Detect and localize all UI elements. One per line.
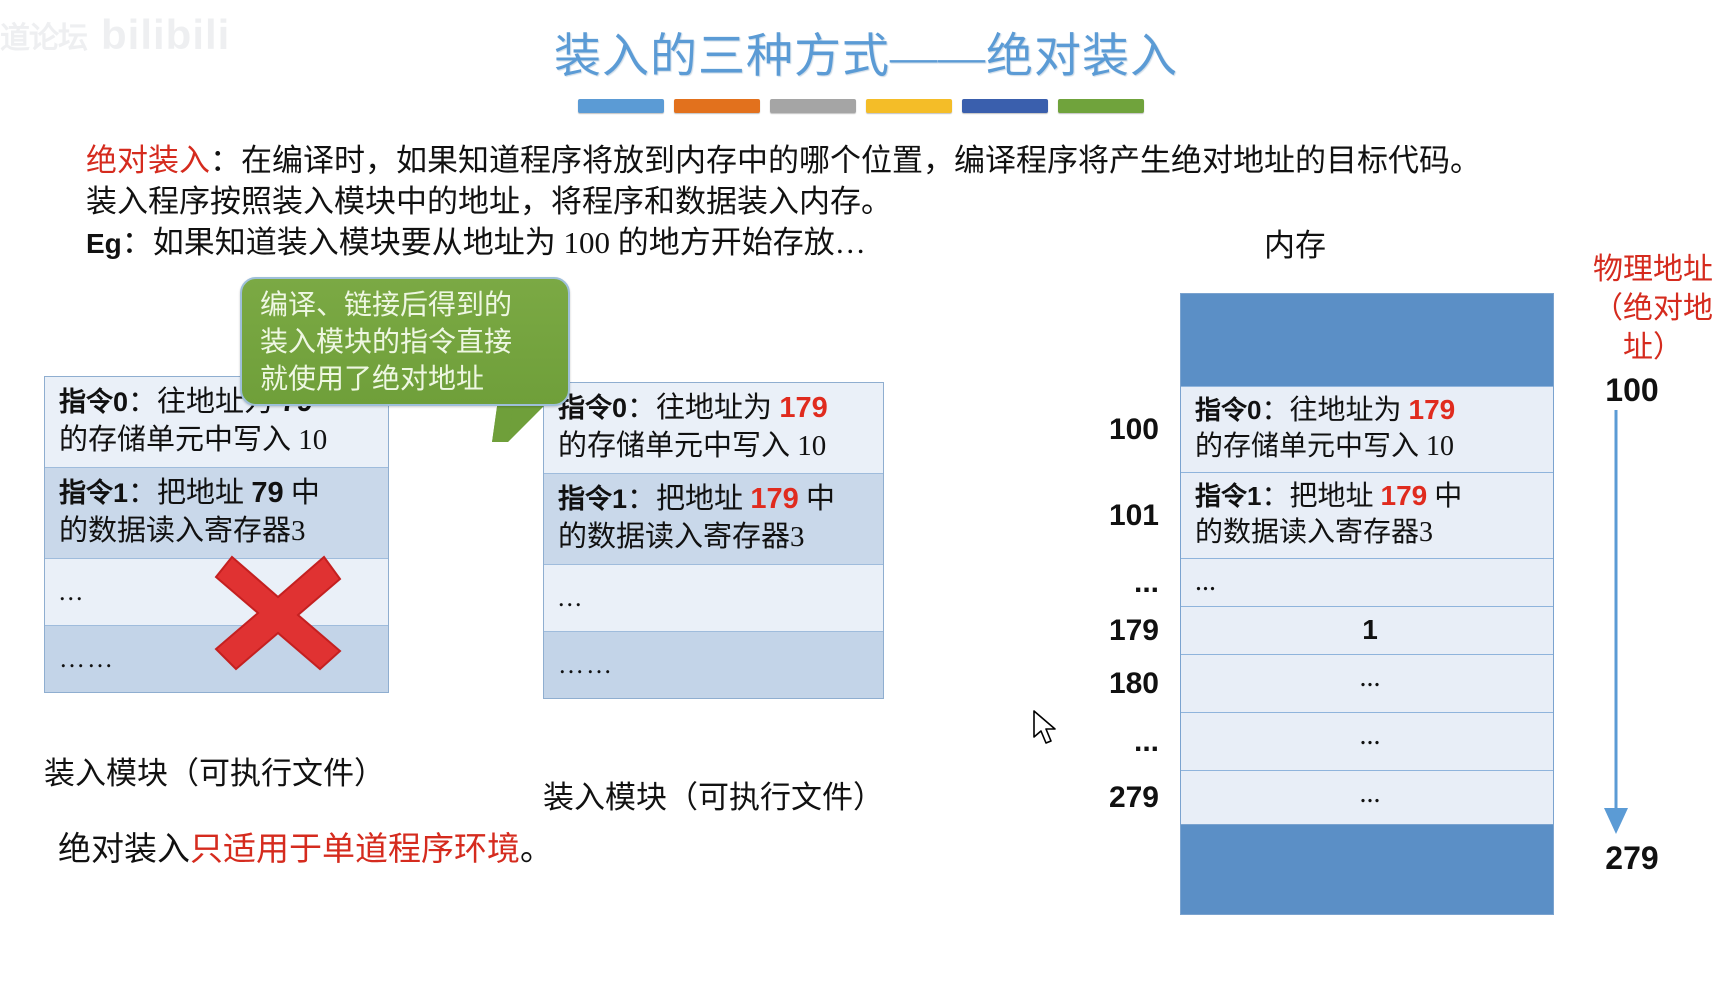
memory-row-ellipsis-2: ... ... xyxy=(1181,712,1553,770)
instr1-mid-right: 把地址 xyxy=(656,483,750,515)
memory-address-180: 180 xyxy=(1061,666,1181,702)
instruction-row-1: 指令1：把地址 179 中 的数据读入寄存器3 xyxy=(544,474,883,565)
memory-row-101: 101 指令1：把地址 179 中 的数据读入寄存器3 xyxy=(1181,472,1553,558)
instruction-row-1-line2: 的数据读入寄存器3 xyxy=(59,512,378,550)
instr1-mid-left: 把地址 xyxy=(157,477,251,509)
instruction-row-0-line1: 指令0：往地址为 179 xyxy=(558,389,873,427)
memory-address-ellipsis-1: ... xyxy=(1061,565,1181,601)
instr0-prefix-left: 指令0 xyxy=(59,387,128,417)
memory-address-100: 100 xyxy=(1061,412,1181,448)
memory-value-279: ... xyxy=(1360,778,1381,809)
instr0-sep-right: ： xyxy=(627,392,656,424)
accent-bar-6 xyxy=(1058,99,1144,113)
physical-address-end: 279 xyxy=(1572,840,1692,877)
red-cross-icon xyxy=(212,553,344,671)
memory-address-279: 279 xyxy=(1061,780,1181,816)
memory-row-101-line1: 指令1：把地址 179 中 xyxy=(1195,478,1545,515)
memory-title: 内存 xyxy=(1180,220,1410,265)
instr1-prefix-right: 指令1 xyxy=(558,484,627,514)
memory-value-ellipsis-2: ... xyxy=(1360,720,1381,751)
mem-instr1-tail: 中 xyxy=(1427,481,1462,512)
paragraph-line-1: 绝对装入：在编译时，如果知道程序将放到内存中的哪个位置，编译程序将产生绝对地址的… xyxy=(86,140,1456,181)
accent-bar-1 xyxy=(578,99,664,113)
instr0-address-right: 179 xyxy=(779,392,827,424)
callout-tail xyxy=(492,400,550,442)
instr1-sep-left: ： xyxy=(128,477,157,509)
instruction-row-1-line1: 指令1：把地址 79 中 xyxy=(59,474,378,512)
mem-instr0-mid: 往地址为 xyxy=(1289,395,1408,426)
instr1-tail-right: 中 xyxy=(799,483,835,515)
memory-table: 100 指令0：往地址为 179 的存储单元中写入 10 101 指令1：把地址… xyxy=(1180,293,1554,915)
accent-bar-4 xyxy=(866,99,952,113)
load-module-table-right: 指令0：往地址为 179 的存储单元中写入 10 指令1：把地址 179 中 的… xyxy=(543,382,884,699)
caption-right-module: 装入模块（可执行文件） xyxy=(543,772,884,817)
instruction-row-1-line2: 的数据读入寄存器3 xyxy=(558,518,873,556)
physical-address-start: 100 xyxy=(1572,372,1692,409)
memory-row-279: 279 ... xyxy=(1181,770,1553,824)
instr0-sep-left: ： xyxy=(128,386,157,418)
conclusion-post: 。 xyxy=(520,832,553,868)
instr0-prefix-right: 指令0 xyxy=(558,393,627,423)
memory-address-ellipsis-2: ... xyxy=(1061,724,1181,760)
instr1-prefix-left: 指令1 xyxy=(59,478,128,508)
conclusion-highlight: 只适用于单道程序环境 xyxy=(190,832,520,868)
caption-left-module: 装入模块（可执行文件） xyxy=(44,748,385,793)
memory-top-reserved-block xyxy=(1181,294,1553,386)
callout-line-3: 就使用了绝对地址 xyxy=(260,361,568,398)
paragraph-line-2: 装入程序按照装入模块中的地址，将程序和数据装入内存。 xyxy=(86,181,1456,222)
memory-value-180: ... xyxy=(1360,662,1381,693)
callout-line-2: 装入模块的指令直接 xyxy=(260,324,568,361)
conclusion-pre: 绝对装入 xyxy=(58,832,190,868)
eg-label: Eg xyxy=(86,228,122,259)
mem-instr1-prefix: 指令1 xyxy=(1195,481,1261,511)
instr1-tail-left: 中 xyxy=(284,477,320,509)
instruction-row-1: 指令1：把地址 79 中 的数据读入寄存器3 xyxy=(45,468,388,559)
mouse-cursor-icon xyxy=(1032,710,1058,746)
physical-address-label-line1: 物理地址 xyxy=(1572,250,1732,289)
memory-value-ellipsis-1: ... xyxy=(1195,566,1216,597)
memory-row-ellipsis-1: ... ... xyxy=(1181,558,1553,606)
accent-bar-3 xyxy=(770,99,856,113)
instruction-row-0: 指令0：往地址为 179 的存储单元中写入 10 xyxy=(544,383,883,474)
memory-row-100: 100 指令0：往地址为 179 的存储单元中写入 10 xyxy=(1181,386,1553,472)
memory-address-179: 179 xyxy=(1061,613,1181,649)
physical-address-label: 物理地址 （绝对地址） xyxy=(1572,250,1732,367)
memory-row-101-line2: 的数据读入寄存器3 xyxy=(1195,515,1545,551)
memory-row-179: 179 1 xyxy=(1181,606,1553,654)
memory-row-100-line1: 指令0：往地址为 179 xyxy=(1195,392,1545,429)
term-absolute-loading: 绝对装入 xyxy=(86,143,210,178)
instruction-row-0-line2: 的存储单元中写入 10 xyxy=(59,421,378,459)
title-accent-bars xyxy=(578,99,1144,113)
instruction-row-1-line1: 指令1：把地址 179 中 xyxy=(558,480,873,518)
memory-bottom-reserved-block xyxy=(1181,824,1553,914)
memory-row-180: 180 ... xyxy=(1181,654,1553,712)
paragraph-line-1-rest: ：在编译时，如果知道程序将放到内存中的哪个位置，编译程序将产生绝对地址的目标代码… xyxy=(210,143,1481,178)
mem-instr0-address: 179 xyxy=(1409,394,1456,425)
memory-address-101: 101 xyxy=(1061,498,1181,534)
instruction-row-2: ... xyxy=(544,565,883,632)
slide-title: 装入的三种方式——绝对装入 xyxy=(0,28,1732,86)
memory-row-100-line2: 的存储单元中写入 10 xyxy=(1195,429,1545,465)
instruction-row-3: …… xyxy=(544,632,883,698)
accent-bar-5 xyxy=(962,99,1048,113)
instr1-address-right: 179 xyxy=(750,483,798,515)
accent-bar-2 xyxy=(674,99,760,113)
instruction-row-0-line2: 的存储单元中写入 10 xyxy=(558,427,873,465)
physical-address-arrow-icon xyxy=(1596,410,1636,840)
mem-instr1-sep: ： xyxy=(1261,481,1289,512)
conclusion-note: 绝对装入只适用于单道程序环境。 xyxy=(58,822,553,870)
instr0-mid-right: 往地址为 xyxy=(656,392,779,424)
mem-instr0-prefix: 指令0 xyxy=(1195,395,1261,425)
mem-instr0-sep: ： xyxy=(1261,395,1289,426)
instr1-sep-right: ： xyxy=(627,483,656,515)
memory-value-179: 1 xyxy=(1362,614,1378,645)
instr1-address-left: 79 xyxy=(251,477,283,509)
callout-line-1: 编译、链接后得到的 xyxy=(260,287,568,324)
green-callout-bubble: 编译、链接后得到的 装入模块的指令直接 就使用了绝对地址 xyxy=(240,277,570,406)
mem-instr1-mid: 把地址 xyxy=(1289,481,1380,512)
paragraph-line-3-rest: ：如果知道装入模块要从地址为 100 的地方开始存放… xyxy=(122,225,866,260)
physical-address-label-line2: （绝对地址） xyxy=(1572,289,1732,367)
mem-instr1-address: 179 xyxy=(1381,480,1428,511)
